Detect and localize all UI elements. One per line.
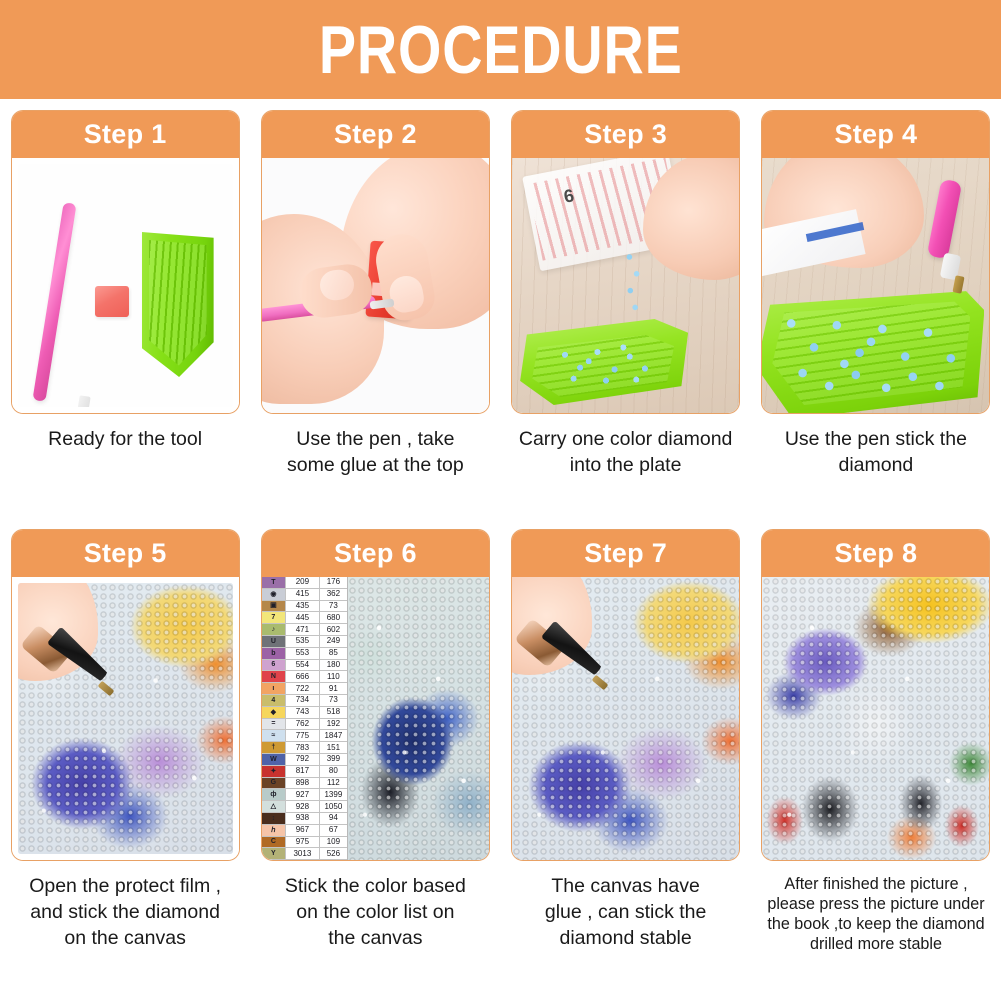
caption-line: glue , can stick the (506, 900, 746, 926)
color-symbol-swatch: ▣ (262, 601, 286, 612)
step-caption-2: Use the pen , take some glue at the top (255, 427, 495, 479)
step-cell-2: Step 2 Use the pen , take some glue (250, 110, 500, 529)
color-count: 176 (320, 577, 347, 588)
step-header-5: Step 5 (12, 530, 239, 577)
color-count: 85 (320, 648, 347, 659)
caption-line: diamond (756, 453, 996, 479)
color-symbol-swatch: ✦ (262, 766, 286, 777)
glue-photo (262, 158, 489, 413)
color-count: 399 (320, 754, 347, 765)
caption-line: the canvas (255, 926, 495, 952)
step-header-1: Step 1 (12, 111, 239, 158)
page-banner: PROCEDURE (0, 0, 1001, 99)
caption-line: Stick the color based (255, 874, 495, 900)
step-caption-5: Open the protect film , and stick the di… (5, 874, 245, 952)
color-symbol-swatch: 4 (262, 695, 286, 706)
color-dmc-code: 967 (286, 825, 320, 836)
caption-line: After finished the picture , (756, 874, 995, 894)
sparkle-highlights-icon (762, 577, 989, 860)
caption-line: Use the pen , take (255, 427, 495, 453)
color-list-row: ı72291 (262, 683, 347, 695)
steps-row-top: Step 1 Ready for the tool Step 2 (0, 99, 1001, 529)
caption-line: please press the picture under (756, 894, 995, 914)
step-cell-4: Step 4 Use the pen stick the diamond (751, 110, 1001, 529)
color-count: 1050 (320, 801, 347, 812)
color-list-row: =762192 (262, 719, 347, 731)
pen-tip-icon (953, 275, 965, 293)
step-card-3: Step 3 6 (511, 110, 740, 414)
color-list-row: Y3013526 (262, 848, 347, 860)
color-list-row: ≈7751847 (262, 730, 347, 742)
step-image-6: T209176◉415362▣435737445680♪471602U53524… (262, 577, 489, 860)
color-symbol-swatch: † (262, 742, 286, 753)
falling-diamonds-icon (624, 250, 642, 320)
step-header-8: Step 8 (762, 530, 989, 577)
caption-line: Ready for the tool (5, 427, 245, 453)
color-list-row: G898112 (262, 778, 347, 790)
color-list-row: ◉415362 (262, 589, 347, 601)
step-header-4: Step 4 (762, 111, 989, 158)
caption-line: drilled more stable (756, 934, 995, 954)
step-image-5 (12, 577, 239, 860)
caption-line: on the canvas (5, 926, 245, 952)
step-card-4: Step 4 (761, 110, 990, 414)
color-count: 73 (320, 695, 347, 706)
color-list-row: b55385 (262, 648, 347, 660)
color-symbol-swatch: b (262, 648, 286, 659)
color-list-row: ◆743518 (262, 707, 347, 719)
color-count: 112 (320, 778, 347, 789)
pour-diamonds-photo: 6 (512, 158, 739, 413)
color-count: 1399 (320, 789, 347, 800)
sparkle-highlights-icon (348, 577, 489, 860)
color-symbol-swatch: ◉ (262, 589, 286, 600)
color-count: 73 (320, 601, 347, 612)
stick-diamond-photo (18, 583, 233, 854)
step-image-7 (512, 577, 739, 860)
step-caption-4: Use the pen stick the diamond (756, 427, 996, 479)
color-symbol-swatch: U (262, 636, 286, 647)
step-caption-6: Stick the color based on the color list … (255, 874, 495, 952)
page-title: PROCEDURE (319, 16, 683, 84)
color-symbol-swatch: 7 (262, 612, 286, 623)
glue-canvas-photo (512, 577, 739, 860)
color-symbol-swatch: G (262, 778, 286, 789)
color-list-row: W792399 (262, 754, 347, 766)
color-count: 94 (320, 813, 347, 824)
caption-line: the book ,to keep the diamond (756, 914, 995, 934)
color-dmc-code: 743 (286, 707, 320, 718)
color-dmc-code: 209 (286, 577, 320, 588)
color-list-row: ▣43573 (262, 601, 347, 613)
caption-line: Use the pen stick the (756, 427, 996, 453)
color-dmc-code: 938 (286, 813, 320, 824)
pick-diamond-photo (762, 158, 989, 413)
wax-square-icon (95, 286, 129, 317)
color-list-row: 473473 (262, 695, 347, 707)
color-dmc-code: 666 (286, 671, 320, 682)
color-list-row: †783151 (262, 742, 347, 754)
color-dmc-code: 927 (286, 789, 320, 800)
step-card-8: Step 8 (761, 529, 990, 861)
color-list-row: △9281050 (262, 801, 347, 813)
color-symbol-swatch: ◆ (262, 707, 286, 718)
step-caption-8: After finished the picture , please pres… (756, 874, 995, 954)
step-card-6: Step 6 T209176◉415362▣435737445680♪47160… (261, 529, 490, 861)
caption-line: diamond stable (506, 926, 746, 952)
color-dmc-code: 554 (286, 660, 320, 671)
blue-diamonds-icon (776, 305, 966, 397)
step-image-1 (12, 158, 239, 413)
color-dmc-code: 775 (286, 730, 320, 741)
color-dmc-code: 471 (286, 624, 320, 635)
step-header-7: Step 7 (512, 530, 739, 577)
color-dmc-code: 792 (286, 754, 320, 765)
caption-line: on the color list on (255, 900, 495, 926)
color-count: 109 (320, 837, 347, 848)
step-image-2 (262, 158, 489, 413)
color-symbol-swatch: ↕ (262, 813, 286, 824)
pink-pen-icon (32, 202, 76, 402)
color-count: 91 (320, 683, 347, 694)
step-cell-1: Step 1 Ready for the tool (0, 110, 250, 529)
color-dmc-code: 722 (286, 683, 320, 694)
color-count: 151 (320, 742, 347, 753)
color-symbol-swatch: ♪ (262, 624, 286, 635)
color-list-row: ℎ96767 (262, 825, 347, 837)
color-count: 1847 (320, 730, 347, 741)
caption-line: Open the protect film , (5, 874, 245, 900)
color-dmc-code: 928 (286, 801, 320, 812)
step-card-7: Step 7 (511, 529, 740, 861)
pen-collar-icon (76, 395, 90, 407)
color-count: 602 (320, 624, 347, 635)
color-symbol-swatch: Y (262, 848, 286, 859)
color-symbol-swatch: ℎ (262, 825, 286, 836)
color-symbol-swatch: T (262, 577, 286, 588)
step-cell-6: Step 6 T209176◉415362▣435737445680♪47160… (250, 529, 500, 999)
color-list-photo: T209176◉415362▣435737445680♪471602U53524… (262, 577, 489, 860)
pink-pen-icon (927, 179, 962, 260)
step-cell-5: Step 5 Open the protect film , and stick… (0, 529, 250, 999)
color-dmc-code: 435 (286, 601, 320, 612)
step-image-3: 6 (512, 158, 739, 413)
color-dmc-code: 898 (286, 778, 320, 789)
color-count: 518 (320, 707, 347, 718)
step-header-6: Step 6 (262, 530, 489, 577)
color-list-row: 7445680 (262, 612, 347, 624)
color-count: 362 (320, 589, 347, 600)
caption-line: Carry one color diamond (506, 427, 746, 453)
color-list-row: T209176 (262, 577, 347, 589)
color-count: 249 (320, 636, 347, 647)
color-symbol-swatch: N (262, 671, 286, 682)
color-count: 67 (320, 825, 347, 836)
color-symbol-swatch: △ (262, 801, 286, 812)
finished-painting-photo (762, 577, 989, 860)
color-dmc-code: 553 (286, 648, 320, 659)
color-list-row: ♪471602 (262, 624, 347, 636)
color-symbol-swatch: W (262, 754, 286, 765)
color-dmc-code: 762 (286, 719, 320, 730)
color-count: 680 (320, 612, 347, 623)
step-cell-7: Step 7 The canvas have glue , can stick … (501, 529, 751, 999)
color-symbol-swatch: 6 (262, 660, 286, 671)
color-symbol-swatch: ≈ (262, 730, 286, 741)
step-header-3: Step 3 (512, 111, 739, 158)
color-count: 526 (320, 848, 347, 859)
color-symbol-swatch: ф (262, 789, 286, 800)
color-list-row: C975109 (262, 837, 347, 849)
color-dmc-code: 783 (286, 742, 320, 753)
color-list-row: ф9271399 (262, 789, 347, 801)
caption-line: The canvas have (506, 874, 746, 900)
step-cell-3: Step 3 6 Carry one color diamond into th… (501, 110, 751, 529)
color-count: 110 (320, 671, 347, 682)
color-symbol-swatch: C (262, 837, 286, 848)
step-caption-1: Ready for the tool (5, 427, 245, 453)
color-count: 180 (320, 660, 347, 671)
color-dmc-code: 445 (286, 612, 320, 623)
color-dmc-code: 535 (286, 636, 320, 647)
tools-photo (18, 164, 233, 407)
color-count: 192 (320, 719, 347, 730)
color-list-row: U535249 (262, 636, 347, 648)
caption-line: some glue at the top (255, 453, 495, 479)
color-list-row: 6554180 (262, 660, 347, 672)
caption-line: and stick the diamond (5, 900, 245, 926)
color-symbol-swatch: = (262, 719, 286, 730)
step-caption-7: The canvas have glue , can stick the dia… (506, 874, 746, 952)
step-caption-3: Carry one color diamond into the plate (506, 427, 746, 479)
color-dmc-code: 975 (286, 837, 320, 848)
color-dmc-code: 415 (286, 589, 320, 600)
caption-line: into the plate (506, 453, 746, 479)
color-dmc-code: 734 (286, 695, 320, 706)
color-list-table: T209176◉415362▣435737445680♪471602U53524… (262, 577, 348, 860)
color-dmc-code: 817 (286, 766, 320, 777)
color-list-row: N666110 (262, 671, 347, 683)
step-card-5: Step 5 (11, 529, 240, 861)
color-list-row: ✦81780 (262, 766, 347, 778)
mosaic-area (348, 577, 489, 860)
step-cell-8: Step 8 After finished the picture , plea… (751, 529, 1001, 999)
color-dmc-code: 3013 (286, 848, 320, 859)
step-card-1: Step 1 (11, 110, 240, 414)
color-count: 80 (320, 766, 347, 777)
blue-diamonds-icon (552, 341, 660, 387)
color-list-row: ↕93894 (262, 813, 347, 825)
steps-row-bottom: Step 5 Open the protect film , and stick… (0, 529, 1001, 999)
step-card-2: Step 2 (261, 110, 490, 414)
step-header-2: Step 2 (262, 111, 489, 158)
color-symbol-swatch: ı (262, 683, 286, 694)
step-image-8 (762, 577, 989, 860)
step-image-4 (762, 158, 989, 413)
